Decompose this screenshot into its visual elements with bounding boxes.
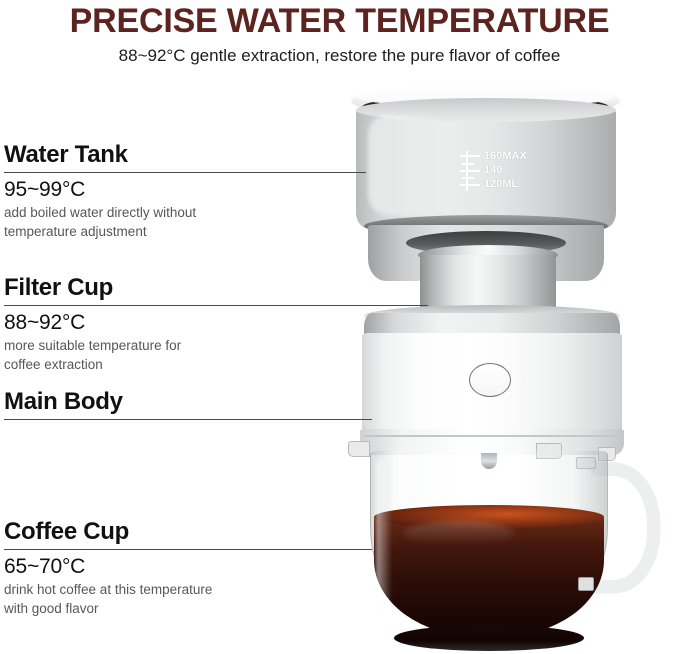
callout-desc-line1-water-tank: add boiled water directly without <box>4 204 366 222</box>
scale-tick-minor-1 <box>462 163 474 165</box>
callout-leader-line-filter-cup <box>4 305 428 306</box>
callout-main-body: Main Body <box>4 388 372 420</box>
scale-label-120ml: 120ML <box>484 179 518 190</box>
header: PRECISE WATER TEMPERATURE 88~92°C gentle… <box>0 0 679 72</box>
coffee-highlight <box>404 521 514 545</box>
scale-label-160max: 160MAX <box>484 151 527 162</box>
scale-tick-major-1 <box>460 155 480 157</box>
page-title: PRECISE WATER TEMPERATURE <box>0 0 679 40</box>
power-button[interactable] <box>469 363 511 397</box>
callout-coffee-cup: Coffee Cup 65~70°C drink hot coffee at t… <box>4 518 372 618</box>
callout-temperature-coffee-cup: 65~70°C <box>4 553 372 580</box>
scale-tick-minor-2 <box>462 177 474 179</box>
callout-leader-line-main-body <box>4 419 372 420</box>
callout-title-filter-cup: Filter Cup <box>4 274 428 302</box>
callout-temperature-water-tank: 95~99°C <box>4 176 366 203</box>
callout-filter-cup: Filter Cup 88~92°C more suitable tempera… <box>4 274 428 374</box>
coffee-cup-bottom <box>394 625 584 651</box>
water-tank-highlight <box>368 115 448 215</box>
callout-title-main-body: Main Body <box>4 388 372 416</box>
callout-leader-line-water-tank <box>4 172 366 173</box>
callout-leader-line-coffee-cup <box>4 549 372 550</box>
callout-title-coffee-cup: Coffee Cup <box>4 518 372 546</box>
cup-glass-highlight <box>376 457 392 627</box>
cup-handle-clip-bottom <box>578 577 594 591</box>
callout-title-water-tank: Water Tank <box>4 141 366 169</box>
callout-desc-line1-filter-cup: more suitable temperature for <box>4 337 428 355</box>
callout-desc-line1-coffee-cup: drink hot coffee at this temperature <box>4 581 372 599</box>
scale-label-140: 140 <box>484 165 502 176</box>
callout-temperature-filter-cup: 88~92°C <box>4 309 428 336</box>
scale-tick-major-2 <box>460 170 480 172</box>
scale-tick-major-3 <box>460 184 480 186</box>
main-body-base-line <box>364 435 620 437</box>
callout-water-tank: Water Tank 95~99°C add boiled water dire… <box>4 141 366 241</box>
infographic-page: PRECISE WATER TEMPERATURE 88~92°C gentle… <box>0 0 679 654</box>
callout-desc-line2-filter-cup: coffee extraction <box>4 356 428 374</box>
callout-desc-line2-coffee-cup: with good flavor <box>4 600 372 618</box>
water-level-scale: 160MAX 140 120ML <box>466 151 576 191</box>
cup-clip-left <box>348 441 370 457</box>
callout-desc-line2-water-tank: temperature adjustment <box>4 223 366 241</box>
page-subtitle: 88~92°C gentle extraction, restore the p… <box>0 40 679 68</box>
